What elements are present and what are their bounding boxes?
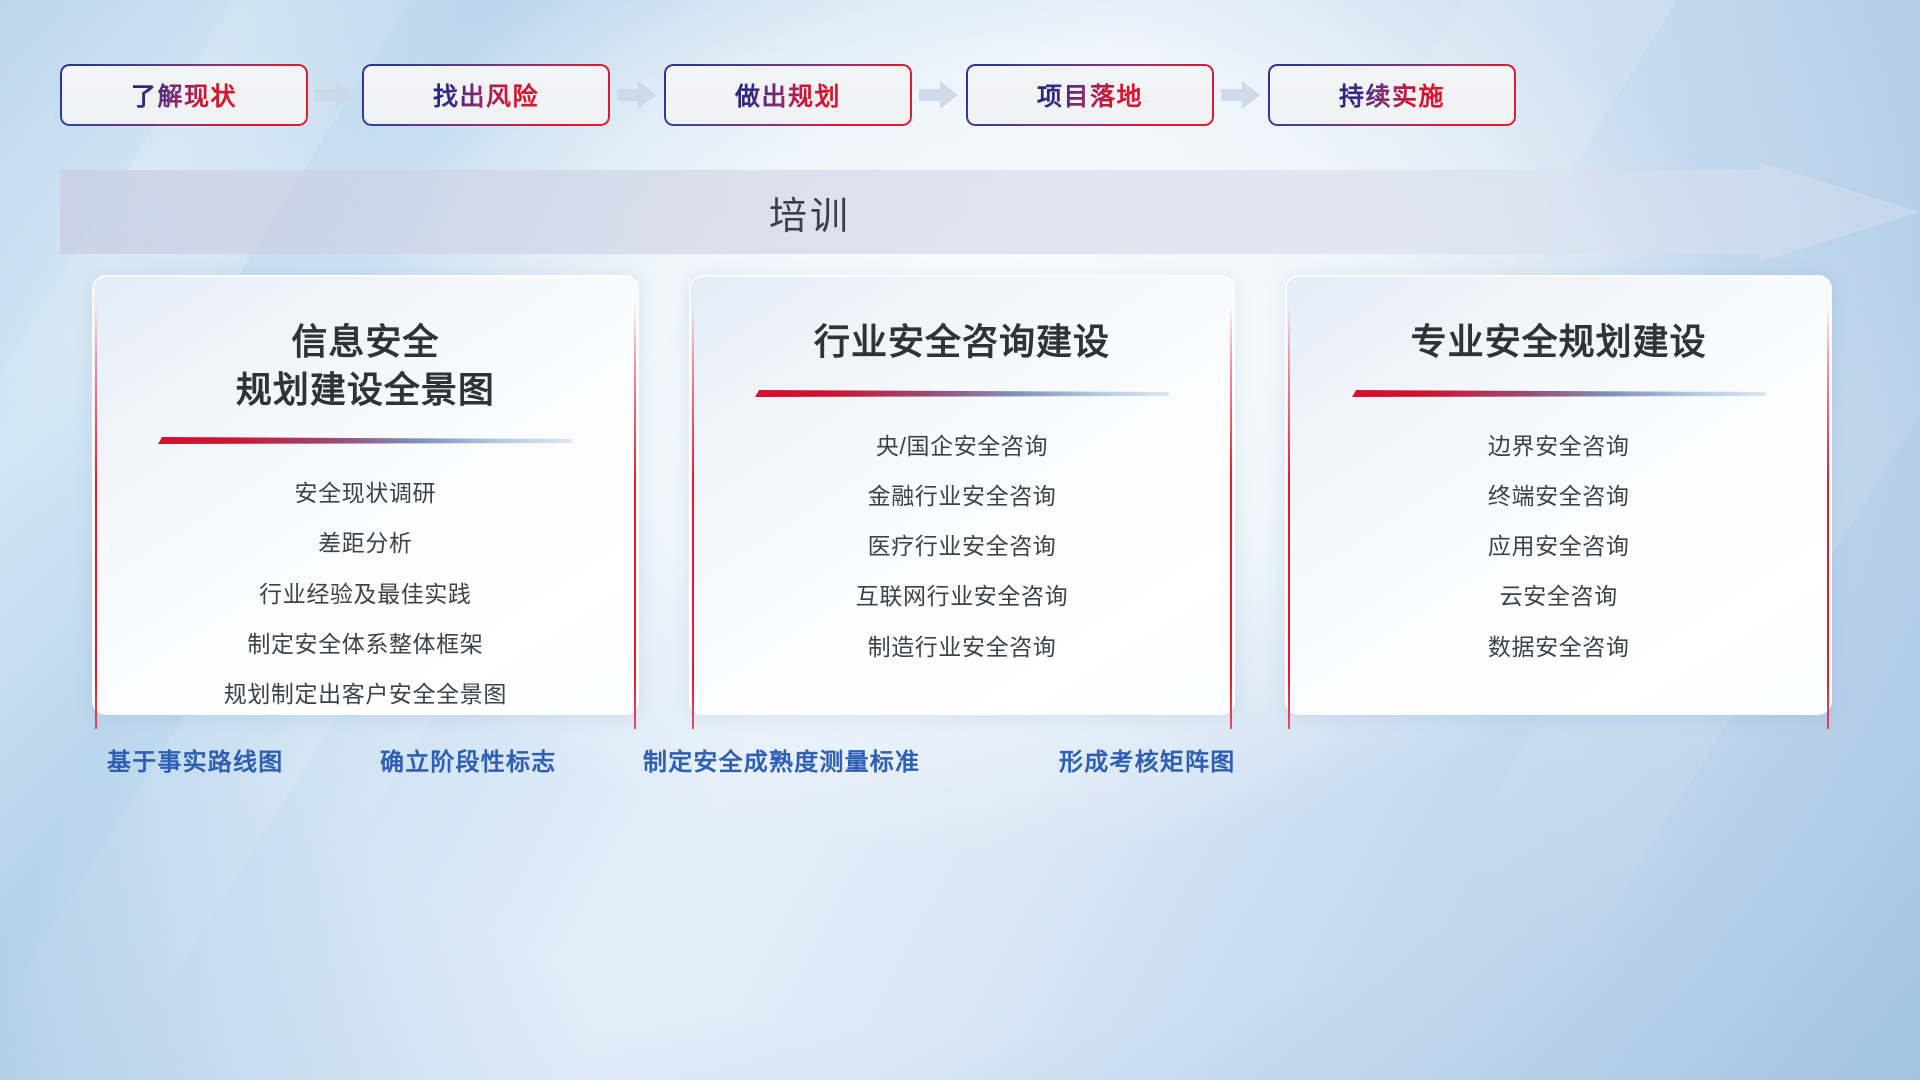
process-step-label: 了解现状: [131, 77, 237, 113]
card-list-item: 制造行业安全咨询: [868, 627, 1057, 667]
card-item-list: 边界安全咨询 终端安全咨询 应用安全咨询 云安全咨询 数据安全咨询: [1286, 426, 1831, 667]
card-row: 信息安全 规划建设全景图: [92, 275, 1832, 715]
process-step-label: 做出规划: [735, 77, 841, 113]
card-list-item: 规划制定出客户安全全景图: [224, 674, 507, 714]
card-list-item: 互联网行业安全咨询: [856, 576, 1068, 616]
card-list-item: 金融行业安全咨询: [868, 476, 1057, 516]
slide-canvas: 了解现状 找出风险 做出规划 项目落地: [0, 0, 1920, 1080]
training-banner: 培训: [60, 162, 1920, 262]
arrow-right-icon: [1214, 64, 1268, 126]
bottom-label-1: 确立阶段性标志: [380, 742, 556, 777]
process-step-3[interactable]: 项目落地: [966, 64, 1214, 126]
card-list-item: 应用安全咨询: [1488, 526, 1630, 566]
card-title: 信息安全 规划建设全景图: [236, 318, 495, 413]
card-0[interactable]: 信息安全 规划建设全景图: [92, 275, 639, 715]
card-list-item: 云安全咨询: [1500, 576, 1618, 616]
bottom-label-3: 形成考核矩阵图: [1059, 742, 1235, 777]
card-list-item: 行业经验及最佳实践: [259, 574, 471, 614]
process-step-2[interactable]: 做出规划: [664, 64, 912, 126]
card-list-item: 差距分析: [318, 523, 412, 563]
tapered-gradient-rule: [1352, 388, 1766, 400]
tapered-gradient-rule: [755, 388, 1169, 400]
arrow-right-icon: [912, 64, 966, 126]
process-step-4[interactable]: 持续实施: [1268, 64, 1516, 126]
arrow-right-icon: [610, 64, 664, 126]
card-1[interactable]: 行业安全咨询建设: [689, 275, 1236, 715]
arrow-right-icon: [308, 64, 362, 126]
tapered-gradient-rule: [158, 435, 572, 447]
bottom-label-2: 制定安全成熟度测量标准: [643, 742, 920, 777]
card-list-item: 医疗行业安全咨询: [868, 526, 1057, 566]
card-item-list: 央/国企安全咨询 金融行业安全咨询 医疗行业安全咨询 互联网行业安全咨询 制造行…: [690, 426, 1235, 667]
card-title: 专业安全规划建设: [1411, 318, 1707, 366]
card-item-list: 安全现状调研 差距分析 行业经验及最佳实践 制定安全体系整体框架 规划制定出客户…: [93, 473, 638, 714]
banner-title: 培训: [60, 162, 1560, 262]
card-list-item: 数据安全咨询: [1488, 627, 1630, 667]
process-step-0[interactable]: 了解现状: [60, 64, 308, 126]
process-step-label: 持续实施: [1339, 77, 1445, 113]
card-title: 行业安全咨询建设: [814, 318, 1110, 366]
process-step-row: 了解现状 找出风险 做出规划 项目落地: [60, 64, 1860, 126]
card-list-item: 边界安全咨询: [1488, 426, 1630, 466]
card-list-item: 终端安全咨询: [1488, 476, 1630, 516]
bottom-label-0: 基于事实路线图: [107, 742, 283, 777]
bottom-label-row: 基于事实路线图 确立阶段性标志 制定安全成熟度测量标准 形成考核矩阵图: [0, 742, 1920, 792]
process-step-label: 找出风险: [433, 77, 539, 113]
process-step-1[interactable]: 找出风险: [362, 64, 610, 126]
card-list-item: 央/国企安全咨询: [876, 426, 1048, 466]
card-2[interactable]: 专业安全规划建设: [1285, 275, 1832, 715]
process-step-label: 项目落地: [1037, 77, 1143, 113]
card-list-item: 安全现状调研: [295, 473, 437, 513]
card-list-item: 制定安全体系整体框架: [247, 624, 483, 664]
